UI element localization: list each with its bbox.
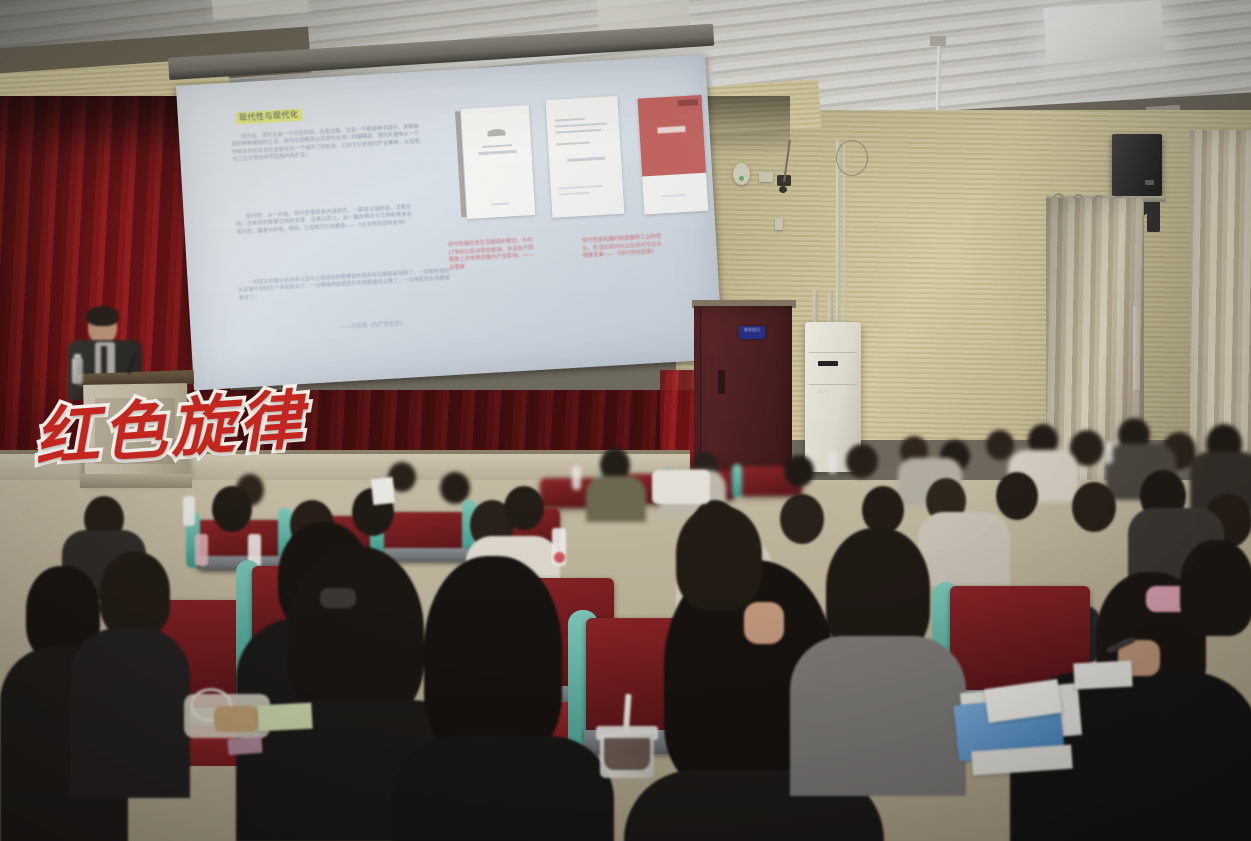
podium-water-bottle: [72, 358, 83, 384]
audience-hand: [744, 602, 784, 644]
ceiling-pendant-mount: [930, 36, 946, 46]
slide-paragraph-1: 现代化：现代化是一个历史阶段，也是过程，又是一个和各种子因子、多种来源的种种潮流…: [231, 124, 420, 165]
audience-body: [70, 628, 190, 798]
audience-head: [986, 430, 1014, 460]
wall-trim-strip: [1133, 306, 1140, 390]
ceiling-light-fixture: [1043, 0, 1165, 64]
bottle-label: [554, 552, 565, 563]
audience-head: [846, 444, 878, 478]
exit-sign-label: 安全出口: [739, 326, 765, 334]
audience-head: [862, 486, 904, 534]
water-bottle: [1104, 442, 1113, 464]
camera-lens: [779, 186, 787, 193]
audience-head: [676, 506, 762, 610]
ac-display-vent: [818, 361, 838, 366]
window-curtain-right-panel: [1190, 130, 1251, 460]
book-emblem: [487, 129, 505, 137]
audience-head: [996, 472, 1038, 520]
audience-head: [780, 494, 824, 544]
audience-head: [100, 552, 170, 638]
wall-switch[interactable]: [775, 218, 783, 230]
projection-screen: 现代性与现代化 现代化：现代化是一个历史阶段，也是过程，又是一个和各种子因子、多…: [176, 55, 723, 391]
audience-head: [1180, 540, 1251, 636]
exit-sign: 安全出口: [739, 326, 765, 339]
paper-sheet: [371, 477, 396, 505]
audience-body: [918, 512, 1010, 586]
slide-quote-attribution: ——马克思《共产党宣言》: [340, 319, 405, 331]
bottle-cap: [74, 354, 81, 359]
watermark-red-melody: 红色旋律: [31, 369, 309, 480]
speaker-logo: [1145, 180, 1154, 185]
presenter-hair: [86, 306, 119, 326]
audience-body: [586, 476, 646, 522]
audience-head: [784, 455, 814, 487]
ac-panel-seam: [809, 352, 857, 353]
ac-brand-logo: ◠◠: [818, 390, 828, 397]
water-bottle: [828, 452, 837, 474]
cup-beverage: [604, 738, 650, 770]
snack-contents: [214, 706, 258, 732]
audience-body: [790, 636, 966, 796]
audience-head: [440, 472, 470, 504]
handbag: [652, 470, 710, 504]
phone: [227, 737, 262, 755]
book-cover-tag: [678, 99, 698, 106]
audience-head: [288, 546, 424, 722]
coiled-cable: [836, 140, 868, 176]
seat-trim: [732, 464, 742, 498]
presenter-tie: [101, 346, 107, 376]
audience-head: [504, 486, 544, 530]
wall-control-plate: [759, 172, 773, 182]
audience-head: [424, 556, 562, 756]
water-bottle: [572, 466, 581, 490]
notebook: [257, 703, 312, 732]
paper-sheet: [1073, 661, 1132, 690]
audience-head: [1072, 482, 1116, 532]
audience-hair-tie: [320, 588, 356, 608]
lecture-hall-photo: 现代性与现代化 现代化：现代化是一个历史阶段，也是过程，又是一个和各种子因子、多…: [0, 0, 1251, 841]
door-center-split: [700, 308, 701, 472]
book-cover-communist-manifesto: [461, 105, 535, 219]
ac-panel-seam: [809, 384, 857, 385]
slide-paragraph-2: 现代性：从一开始，现代性便具有内涵现代，一般意义指的是，又和它的，还有的判断着它…: [236, 204, 413, 237]
slide-quote: 一切固定的僵化的关系以及与之相适应的受尊崇的观念和见解都被消除了，一切新形成的关…: [238, 268, 451, 303]
podium-base: [80, 474, 192, 488]
desk-top: [384, 548, 468, 562]
wall-emergency-light: [733, 163, 750, 185]
slide-title: 现代性与现代化: [236, 109, 302, 125]
door-handle[interactable]: [718, 370, 725, 394]
water-bottle: [195, 534, 208, 566]
book-cover-marx: [638, 95, 707, 177]
slide-red-note-1: 现代性指社会生活或组织模式，大约17世纪以后出现在欧洲，并且在不同程度上对世界范…: [448, 237, 536, 272]
audience-body: [392, 736, 614, 841]
slide-red-note-2: 现代性是机器的制造器和工业的增长，生活的现代化以及现代交往大规模变革——《现代性…: [582, 233, 667, 261]
water-bottle: [183, 496, 195, 526]
wall-speaker: [1112, 134, 1162, 196]
audience-head: [212, 486, 252, 532]
